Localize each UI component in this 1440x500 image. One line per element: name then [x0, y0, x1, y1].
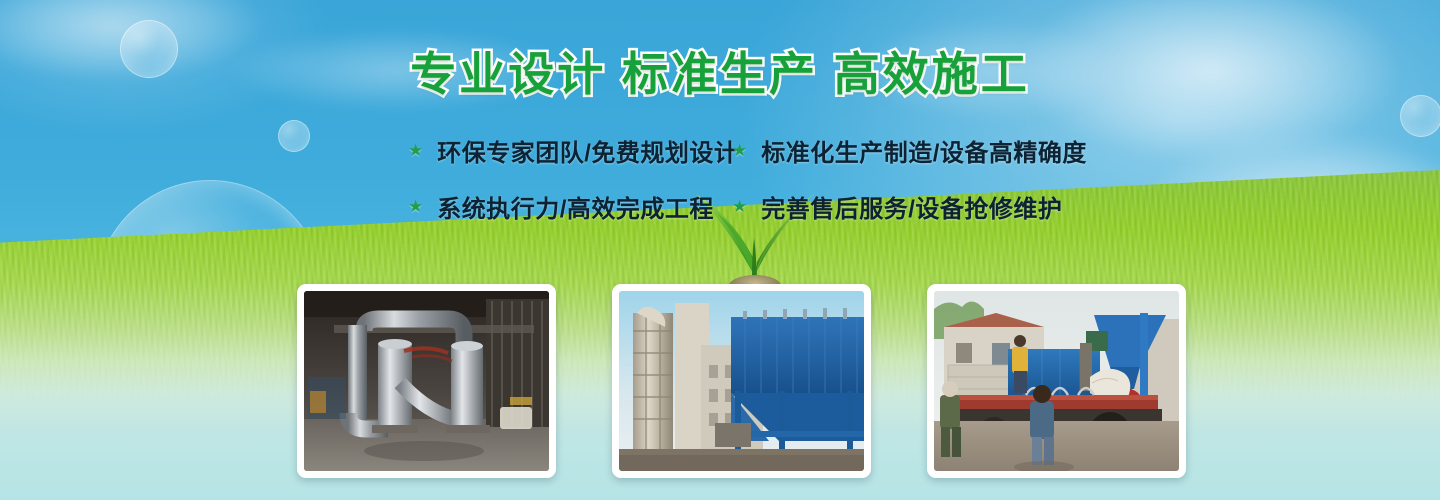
photo-dust-collector [619, 291, 864, 471]
promo-banner: 专业设计 标准生产 高效施工 ★ 环保专家团队/免费规划设计 ★ 标准化生产制造… [0, 0, 1440, 500]
page-title: 专业设计 标准生产 高效施工 [0, 38, 1440, 104]
worker-blue [1030, 385, 1054, 465]
feature-label: 完善售后服务/设备抢修维护 [761, 189, 1062, 224]
feature-label: 标准化生产制造/设备高精确度 [761, 133, 1087, 168]
photo-gallery [297, 284, 1186, 478]
star-icon: ★ [408, 198, 423, 215]
feature-item-4: ★ 完善售后服务/设备抢修维护 [732, 178, 1108, 234]
photo-card-truck-loading[interactable] [927, 284, 1186, 478]
photo-card-dust-collector[interactable] [612, 284, 871, 478]
feature-item-2: ★ 标准化生产制造/设备高精确度 [732, 122, 1108, 178]
star-icon: ★ [408, 142, 423, 159]
feature-list: ★ 环保专家团队/免费规划设计 ★ 标准化生产制造/设备高精确度 ★ 系统执行力… [408, 122, 1108, 234]
photo-truck-loading [934, 291, 1179, 471]
feature-item-3: ★ 系统执行力/高效完成工程 [408, 178, 732, 234]
photo-card-ductwork[interactable] [297, 284, 556, 478]
feature-label: 系统执行力/高效完成工程 [437, 189, 714, 224]
star-icon: ★ [732, 198, 747, 215]
feature-label: 环保专家团队/免费规划设计 [437, 133, 738, 168]
feature-item-1: ★ 环保专家团队/免费规划设计 [408, 122, 732, 178]
star-icon: ★ [732, 142, 747, 159]
photo-ductwork [304, 291, 549, 471]
bubble-icon [278, 120, 310, 152]
